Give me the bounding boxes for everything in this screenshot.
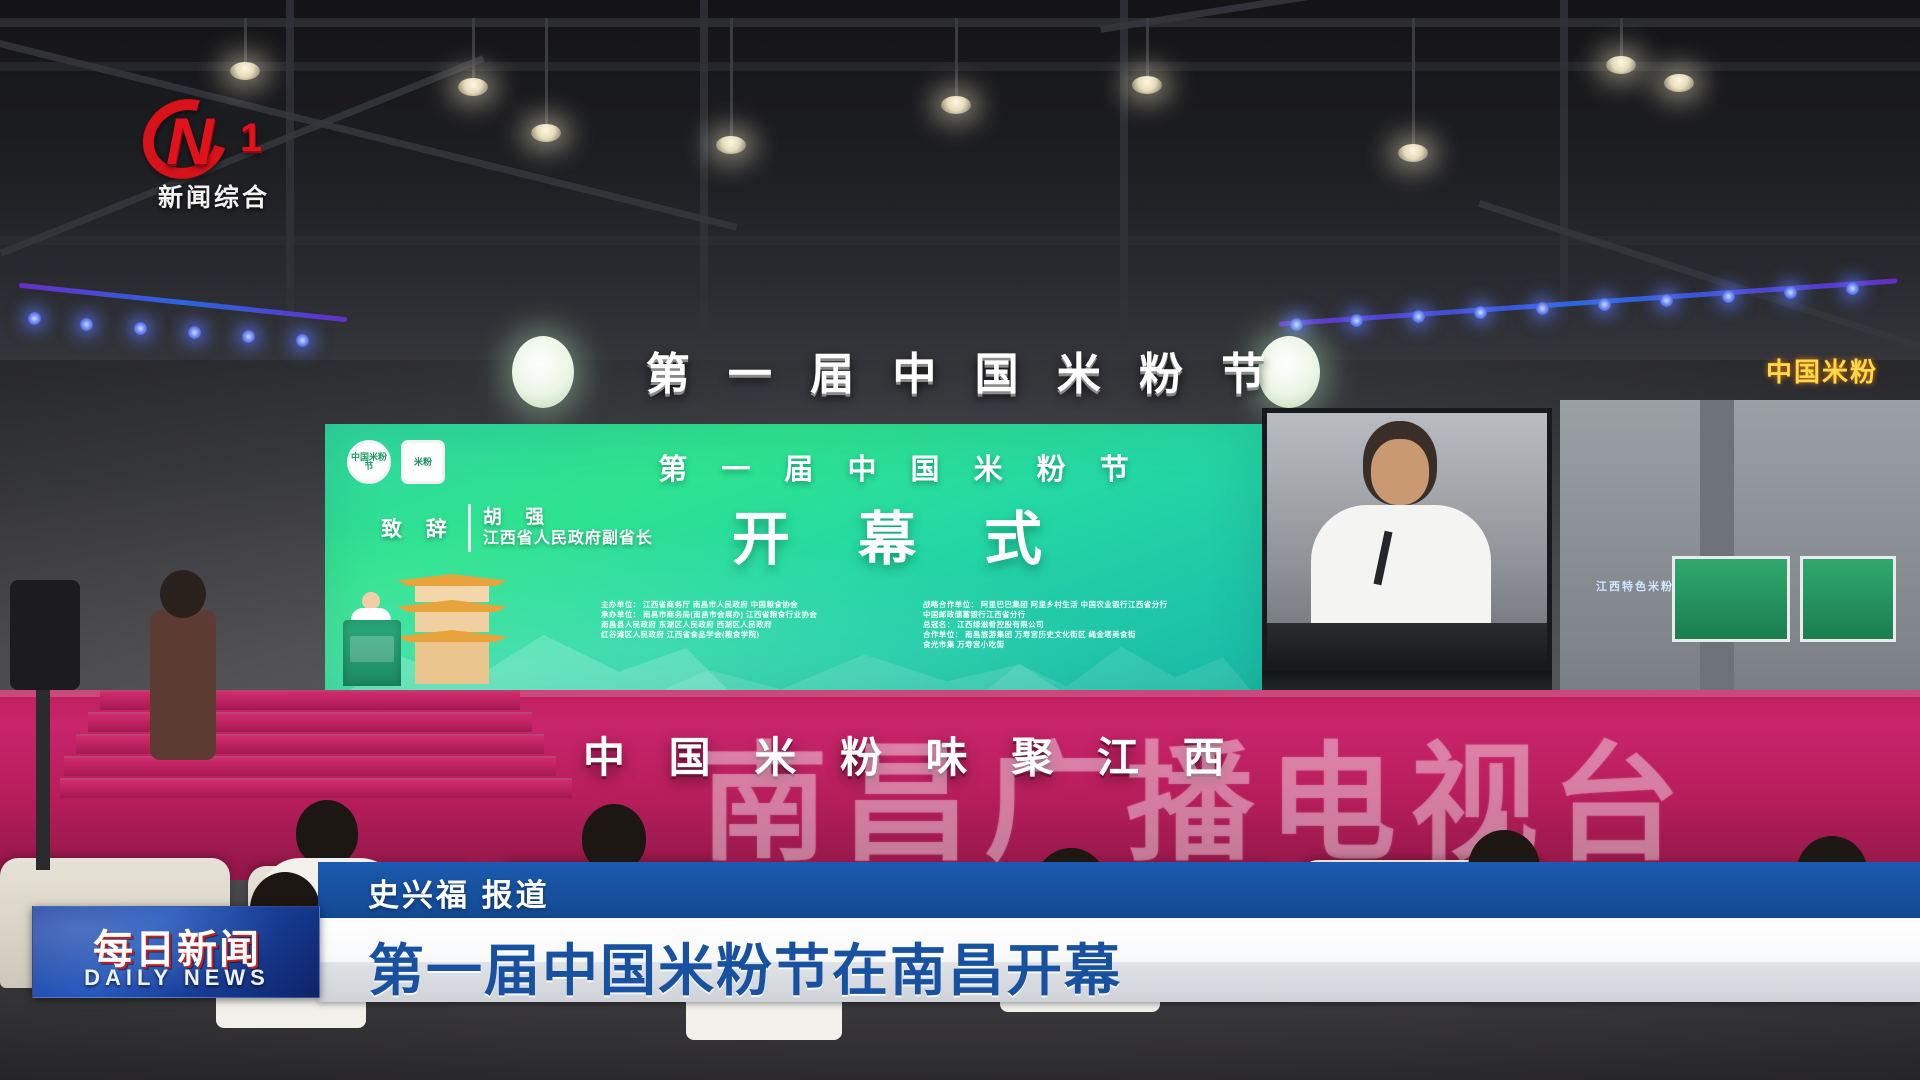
led-bulb — [28, 312, 41, 325]
ceiling-column — [700, 0, 708, 340]
ceiling-lamp — [1606, 56, 1636, 74]
led-bulb — [134, 322, 147, 335]
booth-pillar — [1700, 400, 1734, 700]
ceiling-lamp — [458, 78, 488, 96]
lamp-stem — [545, 18, 548, 126]
lamp-stem — [472, 18, 475, 80]
backwall-sign-text: 第 一 届 中 国 米 粉 节 — [612, 338, 1312, 402]
lamp-stem — [730, 18, 733, 138]
led-screen-credits-left: 主办单位： 江西省商务厅 南昌市人民政府 中国粮食协会承办单位： 南昌市商务局(… — [601, 600, 817, 640]
led-bulb — [1290, 318, 1303, 331]
channel-letter-mark: N — [166, 108, 210, 174]
event-logo-secondary: 米粉 — [401, 440, 445, 484]
decor-moon-left — [512, 336, 574, 408]
person-head — [296, 800, 358, 866]
podium-plate — [350, 636, 394, 662]
headline-text: 第一届中国米粉节在南昌开幕 — [368, 926, 1122, 1007]
led-screen-credits-right: 战略合作单位： 阿里巴巴集团 阿里乡村生活 中国农业银行江西省分行 中国邮政储蓄… — [923, 600, 1167, 650]
operator-head — [160, 570, 206, 618]
led-bulb — [80, 318, 93, 331]
decor-pagoda — [397, 574, 507, 684]
led-screen-logos: 中国米粉节 米粉 — [347, 440, 445, 484]
credit-line: 主办单位： 江西省商务厅 南昌市人民政府 中国粮食协会 — [601, 600, 817, 610]
booth-wall — [1560, 400, 1920, 700]
credit-line: 承办单位： 南昌市商务局(南昌市会展办) 江西省粮食行业协会 — [601, 610, 817, 620]
backwall-sign-row: 第 一 届 中 国 米 粉 节 — [0, 336, 1920, 414]
led-bulb — [1660, 294, 1673, 307]
reporter-bar: 史兴福 报道 — [318, 862, 1920, 918]
pagoda-roof — [397, 600, 507, 612]
led-bulb — [1846, 282, 1859, 295]
lamp-stem — [1620, 18, 1623, 58]
booth-sign-secondary: 江西特色米粉 — [1596, 578, 1674, 594]
led-screen-title-line2: 开 幕 式 — [590, 492, 1210, 576]
channel-number: 1 — [240, 118, 262, 158]
stage-step — [76, 734, 544, 754]
lamp-stem — [1412, 18, 1415, 146]
led-bulb — [1474, 306, 1487, 319]
ceiling-lamp — [716, 136, 746, 154]
booth-display-case — [1800, 556, 1896, 642]
program-name-en: DAILY NEWS — [33, 965, 321, 991]
ceiling-column — [1560, 0, 1568, 340]
credit-line: 红谷滩区人民政府 江西省食品学会(粮食学院) — [601, 630, 817, 640]
camera-operator — [150, 610, 216, 760]
ceiling-lamp — [941, 96, 971, 114]
event-logo-primary: 中国米粉节 — [347, 440, 391, 484]
lamp-stem — [955, 18, 958, 98]
ceiling-lamp — [1398, 144, 1428, 162]
channel-name: 新闻综合 — [128, 178, 300, 214]
led-bulb — [1412, 310, 1425, 323]
broadcast-frame: 中国米粉 江西特色米粉 第 一 届 中 国 米 粉 节 中国米粉节 米粉 致 辞… — [0, 0, 1920, 1080]
speaker-face — [1371, 439, 1429, 505]
led-bulb — [1598, 298, 1611, 311]
booth-display-case — [1672, 556, 1790, 642]
credit-line: 战略合作单位： 阿里巴巴集团 阿里乡村生活 中国农业银行江西省分行 — [923, 600, 1167, 610]
pagoda-tier — [415, 642, 490, 684]
lamp-stem — [244, 18, 247, 64]
led-bulb — [1350, 314, 1363, 327]
ceiling-lamp — [230, 62, 260, 80]
ceiling-lamp — [531, 124, 561, 142]
credit-line: 南昌县人民政府 东湖区人民政府 西湖区人民政府 — [601, 620, 817, 630]
reporter-credit: 史兴福 报道 — [368, 870, 550, 915]
video-wall-stand — [1262, 670, 1552, 692]
credit-line: 总冠名： 江西绿滋肴控股有限公司 — [923, 620, 1167, 630]
led-screen-title-line1: 第 一 届 中 国 米 粉 节 — [590, 446, 1210, 488]
credit-line: 食光市集 万寿宫小吃街 — [923, 640, 1167, 650]
credit-line: 合作单位： 南昌旅游集团 万寿宫历史文化街区 绳金塔美食街 — [923, 630, 1167, 640]
pagoda-tier — [415, 586, 490, 602]
pagoda-roof — [397, 574, 507, 586]
led-bulb — [1722, 290, 1735, 303]
speaker-label: 致 辞 — [381, 513, 456, 543]
stage-video-wall — [1262, 408, 1552, 670]
lamp-stem — [1146, 18, 1149, 78]
ceiling-column — [1120, 0, 1128, 340]
tv-camera — [10, 580, 80, 690]
camera-tripod — [36, 690, 50, 870]
decor-podium — [343, 620, 401, 686]
led-bulb — [1784, 286, 1797, 299]
channel-logo: N 1 新闻综合 — [128, 96, 318, 206]
ceiling-lamp — [1664, 74, 1694, 92]
pagoda-tier — [415, 612, 490, 632]
credit-line: 中国邮政储蓄银行江西省分行 — [923, 610, 1167, 620]
program-logo: 每日新闻 DAILY NEWS — [32, 906, 320, 998]
video-wall-podium — [1267, 623, 1552, 665]
stage-led-screen: 中国米粉节 米粉 致 辞 胡 强 江西省人民政府副省长 第 一 届 中 国 米 … — [325, 424, 1262, 707]
ceiling-lamp — [1132, 76, 1162, 94]
speaker-divider — [468, 504, 471, 552]
headline-bar: 第一届中国米粉节在南昌开幕 — [318, 918, 1920, 1002]
pagoda-roof — [397, 630, 507, 642]
led-bulb — [1536, 302, 1549, 315]
